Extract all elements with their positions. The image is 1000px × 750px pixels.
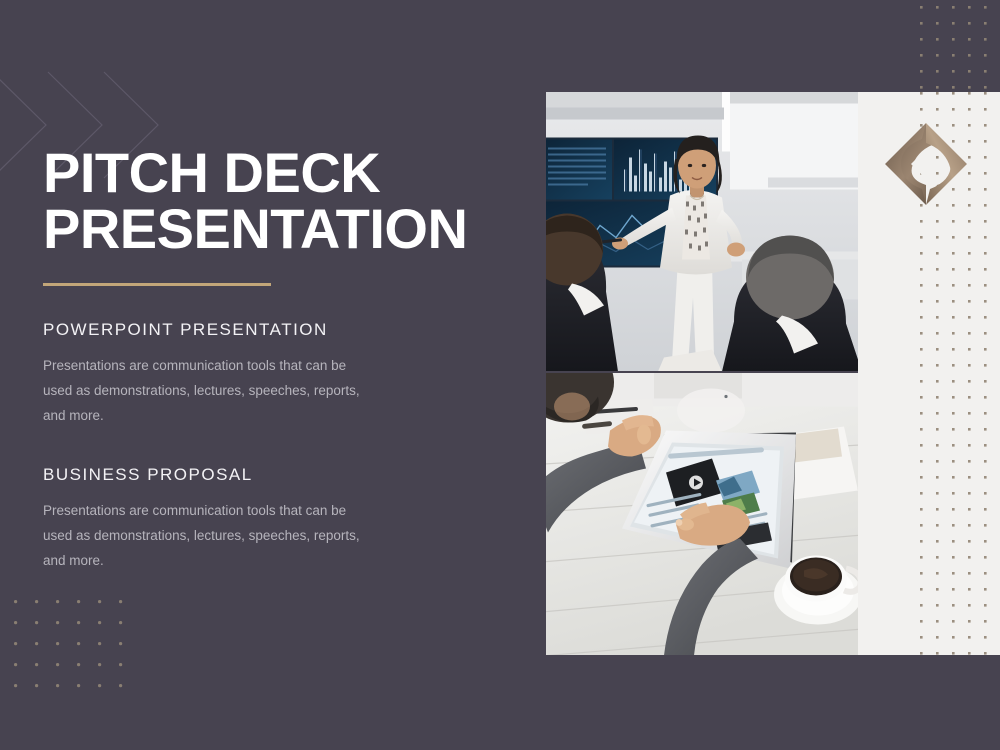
section-powerpoint-presentation: POWERPOINT PRESENTATION Presentations ar… xyxy=(43,320,513,429)
page-title: Pitch Deck Presentation xyxy=(43,145,513,257)
photo-tablet-meeting xyxy=(546,373,858,655)
section-list: POWERPOINT PRESENTATION Presentations ar… xyxy=(43,320,513,574)
pitch-deck-slide: Pitch Deck Presentation POWERPOINT PRESE… xyxy=(0,0,1000,750)
right-light-panel xyxy=(858,92,1000,655)
photo-stack xyxy=(546,92,858,655)
photo-business-presentation xyxy=(546,92,858,371)
section-business-proposal: BUSINESS PROPOSAL Presentations are comm… xyxy=(43,465,513,574)
left-content-column: Pitch Deck Presentation POWERPOINT PRESE… xyxy=(43,145,513,574)
dot-grid-decor xyxy=(14,600,134,710)
title-accent-rule xyxy=(43,283,271,286)
section-heading: BUSINESS PROPOSAL xyxy=(43,465,513,485)
diamond-logo xyxy=(885,123,967,205)
section-body: Presentations are communication tools th… xyxy=(43,354,378,429)
section-body: Presentations are communication tools th… xyxy=(43,499,378,574)
section-heading: POWERPOINT PRESENTATION xyxy=(43,320,513,340)
